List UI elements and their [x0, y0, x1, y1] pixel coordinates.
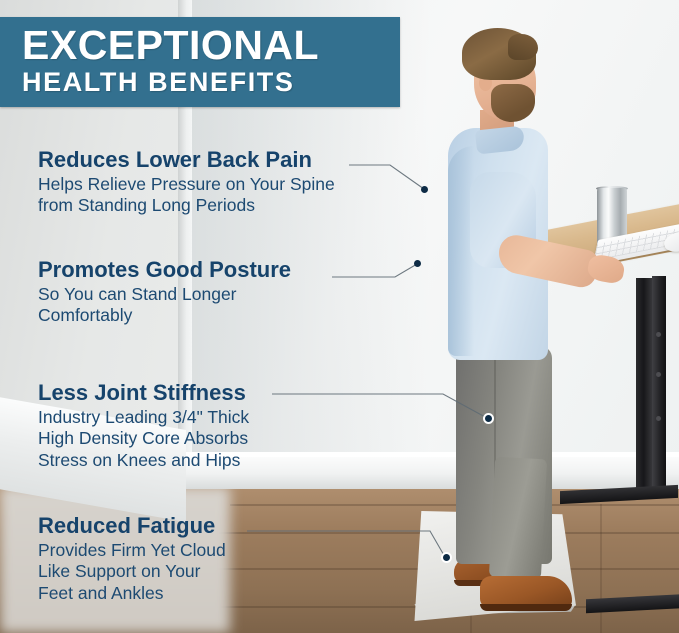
benefit-block-2: Promotes Good Posture So You can Stand L…: [38, 258, 291, 326]
benefit-block-4: Reduced Fatigue Provides Firm Yet Cloud …: [38, 514, 226, 604]
callout-dot-knee: [483, 413, 494, 424]
benefit-line: Like Support on Your: [38, 561, 226, 582]
benefit-block-3: Less Joint Stiffness Industry Leading 3/…: [38, 381, 249, 471]
benefit-line: Stress on Knees and Hips: [38, 450, 249, 471]
benefit-title: Promotes Good Posture: [38, 258, 291, 283]
callout-dot-mat: [441, 552, 452, 563]
infographic-poster: EXCEPTIONAL HEALTH BENEFITS Reduces Lowe…: [0, 0, 679, 633]
benefit-line: Industry Leading 3/4" Thick: [38, 407, 249, 428]
benefit-block-1: Reduces Lower Back Pain Helps Relieve Pr…: [38, 148, 335, 216]
benefit-title: Reduces Lower Back Pain: [38, 148, 335, 173]
banner-title-secondary: HEALTH BENEFITS: [22, 68, 400, 97]
benefit-line: Helps Relieve Pressure on Your Spine: [38, 174, 335, 195]
benefit-line: Comfortably: [38, 305, 291, 326]
banner-title-primary: EXCEPTIONAL: [22, 25, 400, 65]
benefit-line: So You can Stand Longer: [38, 284, 291, 305]
callout-dot-lower-back: [421, 186, 428, 193]
benefit-line: High Density Core Absorbs: [38, 428, 249, 449]
header-banner: EXCEPTIONAL HEALTH BENEFITS: [0, 17, 400, 107]
benefit-title: Less Joint Stiffness: [38, 381, 249, 406]
benefit-line: Provides Firm Yet Cloud: [38, 540, 226, 561]
benefit-line: from Standing Long Periods: [38, 195, 335, 216]
benefit-title: Reduced Fatigue: [38, 514, 226, 539]
benefit-line: Feet and Ankles: [38, 583, 226, 604]
callout-dot-posture: [414, 260, 421, 267]
